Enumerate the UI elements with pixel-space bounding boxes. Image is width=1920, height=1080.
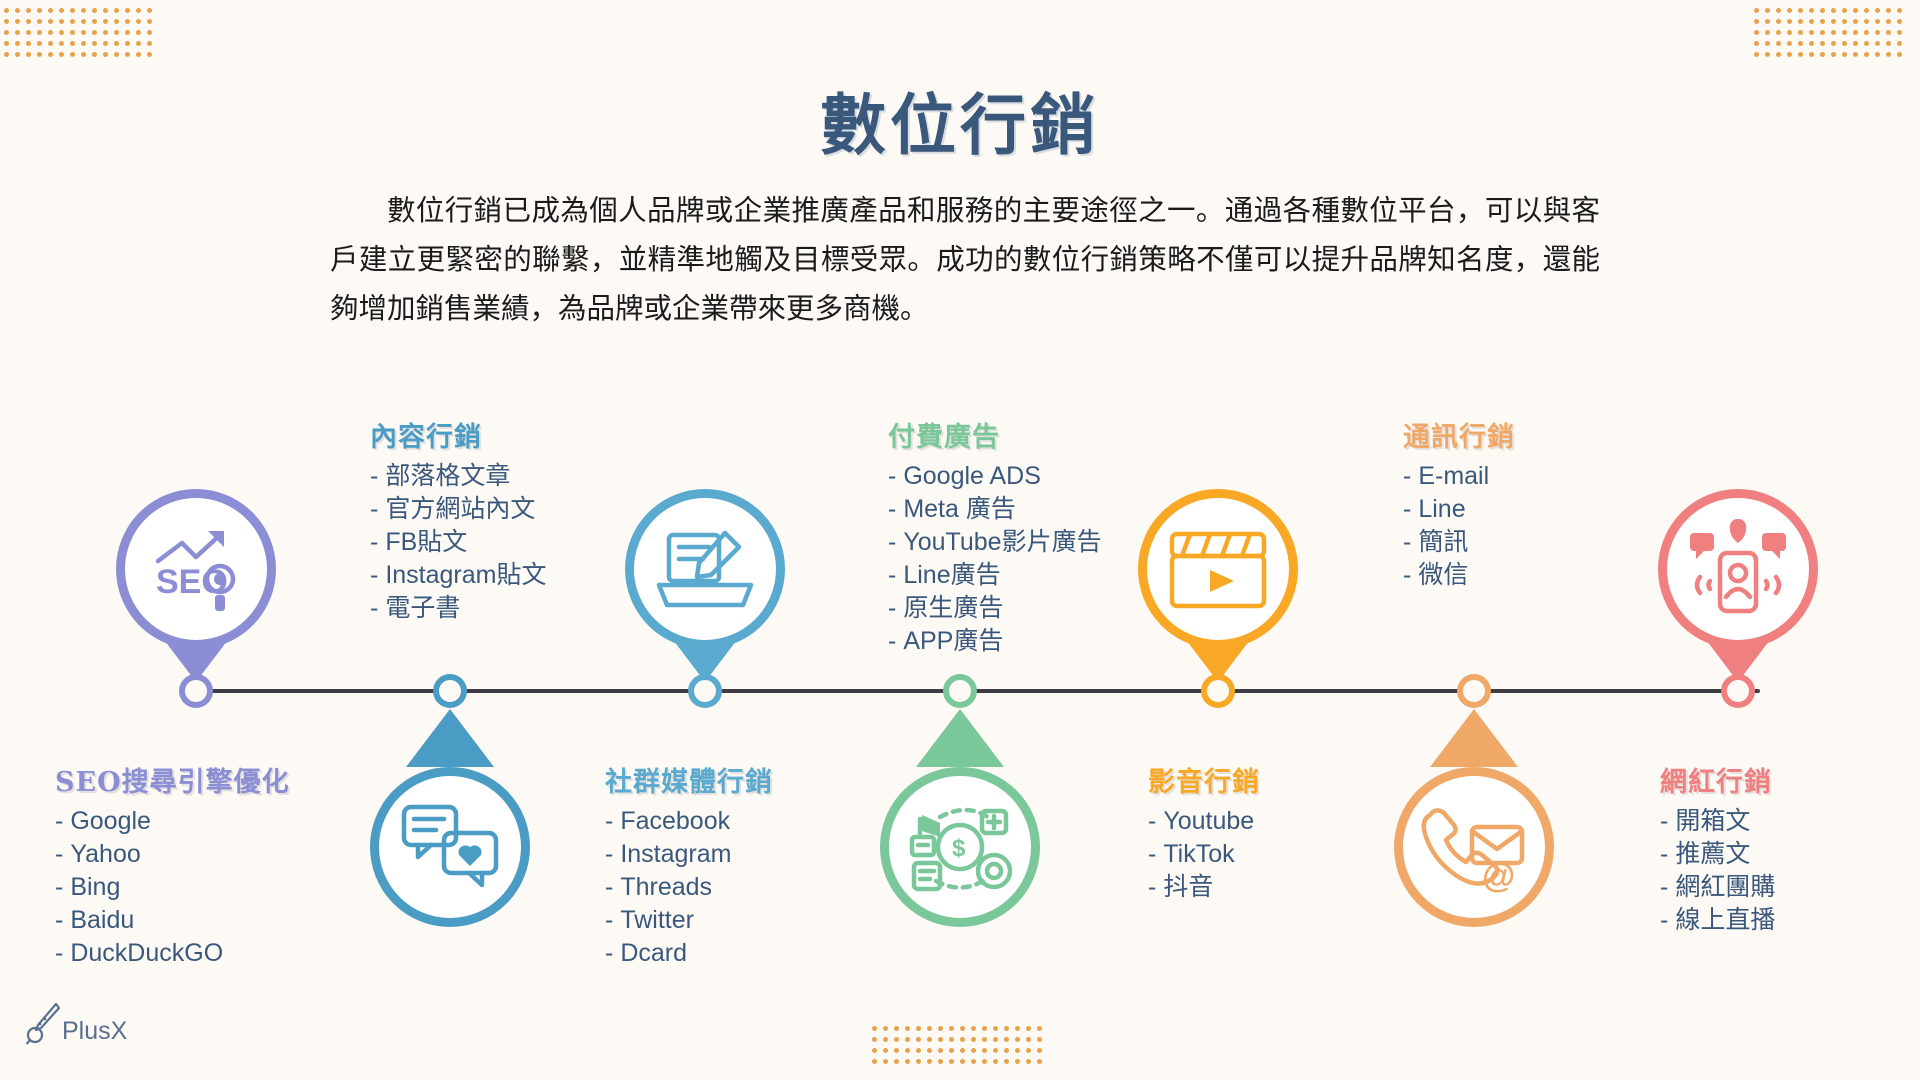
- list-item-label: DuckDuckGO: [70, 939, 223, 967]
- list-item-label: 開箱文: [1675, 807, 1750, 835]
- list-bullet-dash: -: [1148, 873, 1156, 901]
- list-item: -Instagram貼文: [370, 559, 547, 592]
- list-item: -Facebook: [605, 805, 773, 838]
- timeline-node-messaging[interactable]: [1457, 674, 1491, 708]
- list-bullet-dash: -: [370, 495, 378, 523]
- list-bullet-dash: -: [1148, 807, 1156, 835]
- list-bullet-dash: -: [605, 939, 613, 967]
- pencil-search-icon: [26, 1002, 60, 1046]
- list-item-label: Instagram: [620, 840, 731, 868]
- list-bullet-dash: -: [1403, 462, 1411, 490]
- list-item: -Line廣告: [888, 559, 1102, 592]
- list-bullet-dash: -: [370, 594, 378, 622]
- list-bullet-dash: -: [370, 462, 378, 490]
- list-item: -官方網站內文: [370, 493, 547, 526]
- list-item: -Twitter: [605, 904, 773, 937]
- list-bullet-dash: -: [888, 594, 896, 622]
- list-bullet-dash: -: [888, 495, 896, 523]
- list-item: -線上直播: [1660, 904, 1775, 937]
- section-seo: SEO搜尋引擎優化-Google-Yahoo-Bing-Baidu-DuckDu…: [55, 760, 290, 970]
- list-item: -微信: [1403, 559, 1515, 592]
- list-bullet-dash: -: [55, 906, 63, 934]
- messaging-envelope-phone-icon: @: [1394, 767, 1554, 927]
- paid-ads-megaphone-icon: $: [880, 767, 1040, 927]
- list-item: -開箱文: [1660, 805, 1775, 838]
- pin-influencer[interactable]: [1658, 489, 1818, 677]
- seo-magnifier-icon: SEO: [116, 489, 276, 649]
- timeline-node-paid-ads[interactable]: [943, 674, 977, 708]
- list-bullet-dash: -: [370, 561, 378, 589]
- list-bullet-dash: -: [1148, 840, 1156, 868]
- section-video: 影音行銷-Youtube-TikTok-抖音: [1148, 760, 1260, 904]
- section-list-content: -部落格文章-官方網站內文-FB貼文-Instagram貼文-電子書: [370, 460, 547, 625]
- list-item: -Dcard: [605, 937, 773, 970]
- list-item: -Google: [55, 805, 290, 838]
- timeline-node-video[interactable]: [1201, 674, 1235, 708]
- list-bullet-dash: -: [370, 528, 378, 556]
- section-heading-social: 社群媒體行銷: [605, 760, 773, 799]
- list-bullet-dash: -: [605, 807, 613, 835]
- list-bullet-dash: -: [888, 561, 896, 589]
- list-bullet-dash: -: [605, 840, 613, 868]
- list-item: -DuckDuckGO: [55, 937, 290, 970]
- list-item: -Baidu: [55, 904, 290, 937]
- list-bullet-dash: -: [605, 906, 613, 934]
- list-item: -Youtube: [1148, 805, 1260, 838]
- section-list-influencer: -開箱文-推薦文-網紅團購-線上直播: [1660, 805, 1775, 937]
- pin-content[interactable]: [370, 709, 530, 897]
- section-list-video: -Youtube-TikTok-抖音: [1148, 805, 1260, 904]
- list-item-label: 電子書: [385, 594, 460, 622]
- list-item-label: Bing: [70, 873, 120, 901]
- list-bullet-dash: -: [55, 840, 63, 868]
- pin-paid-ads[interactable]: $: [880, 709, 1040, 897]
- infographic-canvas: 數位行銷 數位行銷已成為個人品牌或企業推廣產品和服務的主要途徑之一。通過各種數位…: [0, 0, 1920, 1080]
- list-item-label: Meta 廣告: [903, 495, 1016, 523]
- list-item-label: Google ADS: [903, 462, 1041, 490]
- section-list-paid-ads: -Google ADS-Meta 廣告-YouTube影片廣告-Line廣告-原…: [888, 460, 1102, 658]
- list-item-label: Baidu: [70, 906, 134, 934]
- section-messaging: 通訊行銷-E-mail-Line-簡訊-微信: [1403, 415, 1515, 592]
- section-list-social: -Facebook-Instagram-Threads-Twitter-Dcar…: [605, 805, 773, 970]
- list-item-label: TikTok: [1163, 840, 1234, 868]
- list-item: -抖音: [1148, 871, 1260, 904]
- list-item: -Bing: [55, 871, 290, 904]
- list-bullet-dash: -: [1403, 528, 1411, 556]
- pin-social[interactable]: [625, 489, 785, 677]
- timeline-node-seo[interactable]: [179, 674, 213, 708]
- section-social: 社群媒體行銷-Facebook-Instagram-Threads-Twitte…: [605, 760, 773, 970]
- list-item: -簡訊: [1403, 526, 1515, 559]
- list-item: -Threads: [605, 871, 773, 904]
- list-item: -部落格文章: [370, 460, 547, 493]
- pin-tail-content: [406, 709, 494, 767]
- influencer-phone-icon: [1658, 489, 1818, 649]
- list-item-label: Line: [1418, 495, 1465, 523]
- pin-tail-messaging: [1430, 709, 1518, 767]
- section-heading-content: 內容行銷: [370, 415, 547, 454]
- timeline-node-social[interactable]: [688, 674, 722, 708]
- social-laptop-icon: [625, 489, 785, 649]
- list-item: -網紅團購: [1660, 871, 1775, 904]
- list-item: -APP廣告: [888, 625, 1102, 658]
- list-item-label: E-mail: [1418, 462, 1489, 490]
- decorative-dot-grid-top-left: [4, 8, 158, 63]
- list-item-label: Threads: [620, 873, 712, 901]
- list-bullet-dash: -: [1660, 906, 1668, 934]
- list-item: -Yahoo: [55, 838, 290, 871]
- list-bullet-dash: -: [888, 462, 896, 490]
- list-item-label: Twitter: [620, 906, 694, 934]
- list-item-label: Yahoo: [70, 840, 140, 868]
- list-item-label: 部落格文章: [385, 462, 510, 490]
- list-item: -原生廣告: [888, 592, 1102, 625]
- list-item: -Meta 廣告: [888, 493, 1102, 526]
- list-item-label: Dcard: [620, 939, 687, 967]
- list-bullet-dash: -: [55, 873, 63, 901]
- section-heading-seo: SEO搜尋引擎優化: [55, 760, 290, 799]
- list-item: -推薦文: [1660, 838, 1775, 871]
- section-heading-paid-ads: 付費廣告: [888, 415, 1102, 454]
- list-item: -FB貼文: [370, 526, 547, 559]
- list-item: -E-mail: [1403, 460, 1515, 493]
- list-item: -Instagram: [605, 838, 773, 871]
- timeline-node-influencer[interactable]: [1721, 674, 1755, 708]
- video-play-icon: [1138, 489, 1298, 649]
- list-item-label: FB貼文: [385, 528, 467, 556]
- section-heading-influencer: 網紅行銷: [1660, 760, 1775, 799]
- list-item-label: 抖音: [1163, 873, 1213, 901]
- list-item-label: 官方網站內文: [385, 495, 535, 523]
- list-bullet-dash: -: [1660, 840, 1668, 868]
- list-bullet-dash: -: [1660, 873, 1668, 901]
- list-item-label: 原生廣告: [903, 594, 1003, 622]
- list-bullet-dash: -: [1403, 561, 1411, 589]
- pin-video[interactable]: [1138, 489, 1298, 677]
- list-item-label: Google: [70, 807, 151, 835]
- list-item: -YouTube影片廣告: [888, 526, 1102, 559]
- intro-paragraph: 數位行銷已成為個人品牌或企業推廣產品和服務的主要途徑之一。通過各種數位平台，可以…: [330, 186, 1600, 333]
- list-bullet-dash: -: [1660, 807, 1668, 835]
- list-item-label: 網紅團購: [1675, 873, 1775, 901]
- list-bullet-dash: -: [1403, 495, 1411, 523]
- list-item-label: 線上直播: [1675, 906, 1775, 934]
- list-item: -TikTok: [1148, 838, 1260, 871]
- section-list-seo: -Google-Yahoo-Bing-Baidu-DuckDuckGO: [55, 805, 290, 970]
- section-heading-video: 影音行銷: [1148, 760, 1260, 799]
- section-influencer: 網紅行銷-開箱文-推薦文-網紅團購-線上直播: [1660, 760, 1775, 937]
- list-item: -Line: [1403, 493, 1515, 526]
- section-heading-messaging: 通訊行銷: [1403, 415, 1515, 454]
- svg-text:@: @: [1482, 857, 1515, 895]
- list-bullet-dash: -: [605, 873, 613, 901]
- page-title: 數位行銷: [0, 72, 1920, 168]
- list-item-label: Youtube: [1163, 807, 1254, 835]
- pin-messaging[interactable]: @: [1394, 709, 1554, 897]
- pin-tail-paid-ads: [916, 709, 1004, 767]
- timeline-node-content[interactable]: [433, 674, 467, 708]
- section-list-messaging: -E-mail-Line-簡訊-微信: [1403, 460, 1515, 592]
- section-content: 內容行銷-部落格文章-官方網站內文-FB貼文-Instagram貼文-電子書: [370, 415, 547, 625]
- list-item-label: 推薦文: [1675, 840, 1750, 868]
- list-item-label: Facebook: [620, 807, 730, 835]
- plusx-watermark: PlusX: [26, 1002, 127, 1046]
- list-item-label: 微信: [1418, 561, 1468, 589]
- list-bullet-dash: -: [888, 627, 896, 655]
- list-item-label: Instagram貼文: [385, 561, 546, 589]
- content-chat-bubbles-icon: [370, 767, 530, 927]
- list-item-label: YouTube影片廣告: [903, 528, 1101, 556]
- list-item: -電子書: [370, 592, 547, 625]
- section-paid-ads: 付費廣告-Google ADS-Meta 廣告-YouTube影片廣告-Line…: [888, 415, 1102, 658]
- list-item-label: Line廣告: [903, 561, 1000, 589]
- list-item-label: APP廣告: [903, 627, 1003, 655]
- list-bullet-dash: -: [55, 807, 63, 835]
- decorative-dot-grid-top-right: [1754, 8, 1908, 63]
- watermark-label: PlusX: [62, 1017, 127, 1046]
- pin-seo[interactable]: SEO: [116, 489, 276, 677]
- list-item: -Google ADS: [888, 460, 1102, 493]
- list-bullet-dash: -: [55, 939, 63, 967]
- list-bullet-dash: -: [888, 528, 896, 556]
- list-item-label: 簡訊: [1418, 528, 1468, 556]
- decorative-dot-grid-bottom: [872, 1026, 1048, 1070]
- svg-text:$: $: [952, 835, 966, 862]
